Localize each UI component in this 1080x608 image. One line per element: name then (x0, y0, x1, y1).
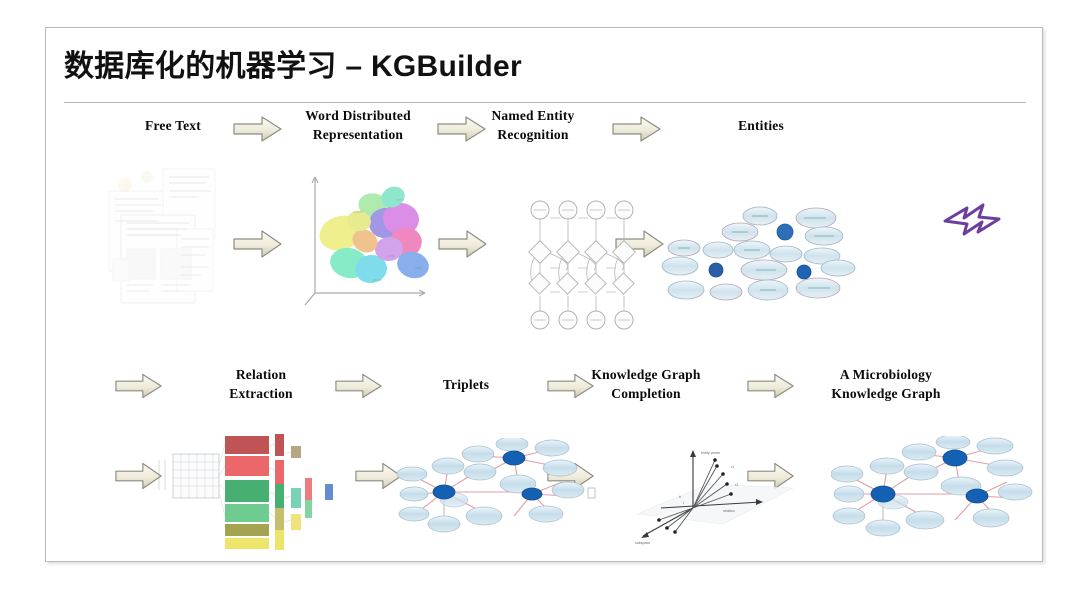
slide-canvas: 数据库化的机器学习 – KGBuilder Free Text Word Dis… (45, 27, 1043, 562)
flow-arrow-completion-to-kg (746, 371, 796, 401)
stage-label-free-text: Free Text (108, 116, 238, 135)
flow-arrow-ner-to-entities (611, 114, 663, 144)
figure-document-stack (101, 163, 221, 308)
svg-text:term: term (397, 198, 404, 202)
figure-embedding-scatter: clusterterm nodegroup label (301, 161, 436, 311)
svg-text:group: group (373, 278, 382, 282)
svg-text:subspace: subspace (635, 541, 650, 545)
flow-arrow-wrap-to-relation (114, 371, 164, 401)
stage-label-word-embedding: Word Distributed Representation (279, 106, 437, 144)
svg-text:entity vector: entity vector (701, 451, 721, 455)
flow-arrow-scatter-to-net (437, 228, 489, 260)
flow-arrow-doc-to-scatter (232, 228, 284, 260)
svg-text:label: label (415, 266, 422, 270)
stage-label-microbiology-kg: A Microbiology Knowledge Graph (806, 365, 966, 403)
svg-text:r2: r2 (735, 483, 738, 487)
flow-arrow-text-to-embedding (232, 114, 284, 144)
continue-arrow-icon (939, 191, 1005, 252)
figure-triplet-graph (396, 438, 596, 548)
cnn-output-block (325, 484, 333, 500)
figure-vector-space-3d: entity vector r1r2 ht relation subspace (631, 436, 796, 551)
flow-arrow-relation-to-triplets (334, 371, 384, 401)
svg-text:h: h (679, 495, 681, 499)
svg-text:cluster: cluster (353, 210, 364, 214)
figure-neural-network (522, 196, 646, 331)
slide-header: 数据库化的机器学习 – KGBuilder (64, 45, 1026, 107)
page-title: 数据库化的机器学习 – KGBuilder (64, 45, 1026, 89)
flow-arrow-embedding-to-ner (436, 114, 488, 144)
figure-knowledge-graph (831, 436, 1036, 551)
stage-label-entities: Entities (696, 116, 826, 135)
svg-text:t: t (683, 501, 684, 505)
svg-text:r1: r1 (731, 465, 734, 469)
figure-cnn-architecture (151, 426, 341, 551)
flow-arrow-triplets-to-completion (546, 371, 596, 401)
svg-text:node: node (387, 254, 395, 258)
svg-text:relation: relation (723, 509, 735, 513)
figure-entity-cloud (658, 196, 868, 316)
title-divider (64, 102, 1026, 103)
stage-label-relation-extraction: Relation Extraction (196, 365, 326, 403)
stage-label-triplets: Triplets (401, 375, 531, 394)
